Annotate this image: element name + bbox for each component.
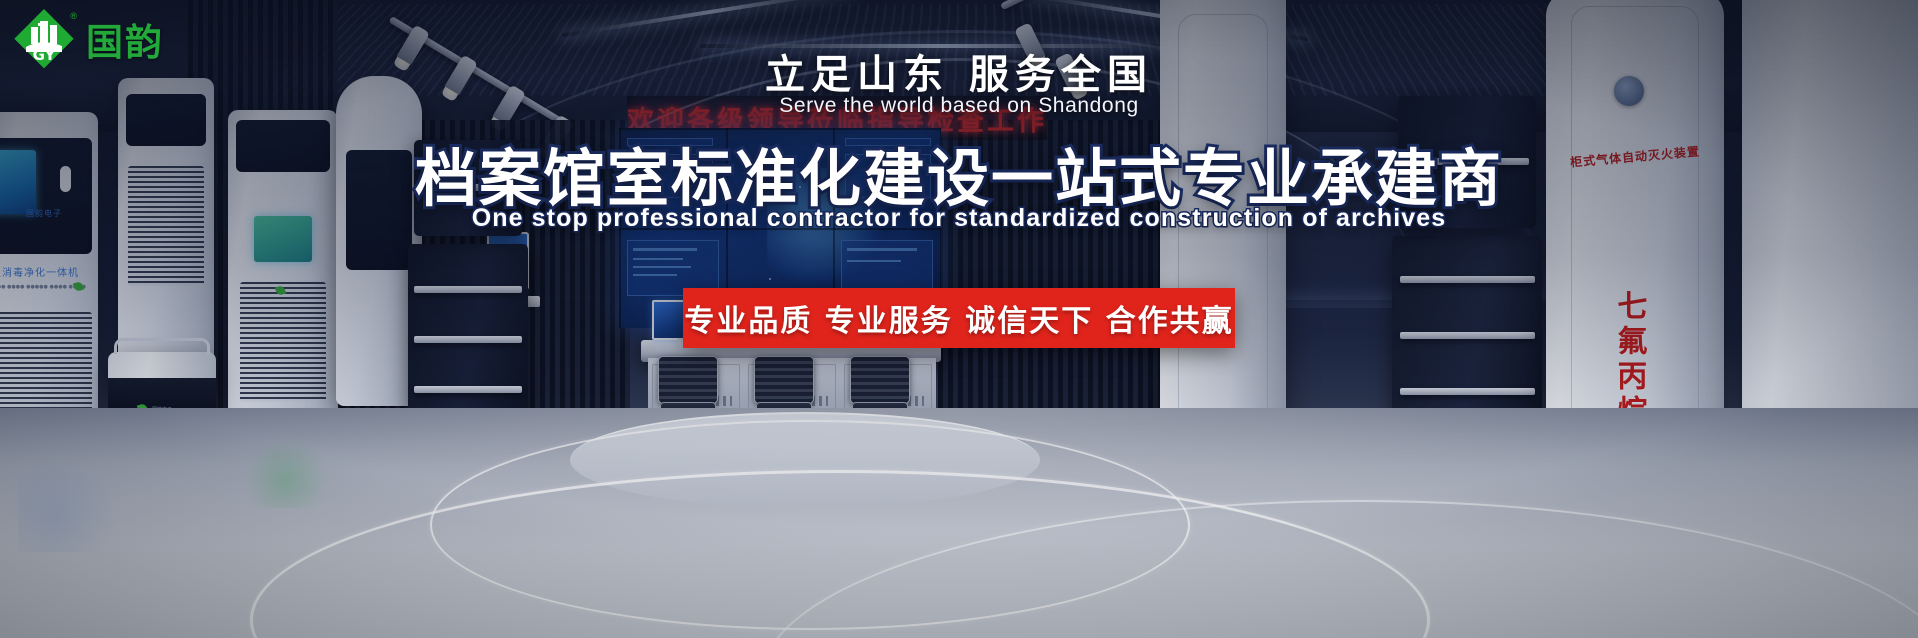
logo-brand-text: 国韵 — [86, 12, 164, 66]
slogan-ribbon: 专业品质 专业服务 诚信天下 合作共赢 — [683, 288, 1235, 348]
banner-subline-en: One stop professional contractor for sta… — [0, 204, 1918, 233]
banner-kicker-cn: 立足山东 服务全国 — [0, 42, 1918, 100]
site-logo[interactable]: GY ® 国韵 — [12, 7, 164, 71]
banner-kicker-en: Serve the world based on Shandong — [0, 94, 1918, 118]
logo-diamond-icon: GY ® — [12, 7, 76, 71]
slogan-text: 专业品质 专业服务 诚信天下 合作共赢 — [684, 296, 1233, 340]
banner-text-overlay: 立足山东 服务全国 Serve the world based on Shand… — [0, 0, 1918, 638]
hero-banner: 欢迎各级领导莅临指导检查工作 — [0, 0, 1918, 638]
svg-text:GY: GY — [33, 46, 57, 64]
registered-trademark-icon: ® — [70, 11, 77, 21]
